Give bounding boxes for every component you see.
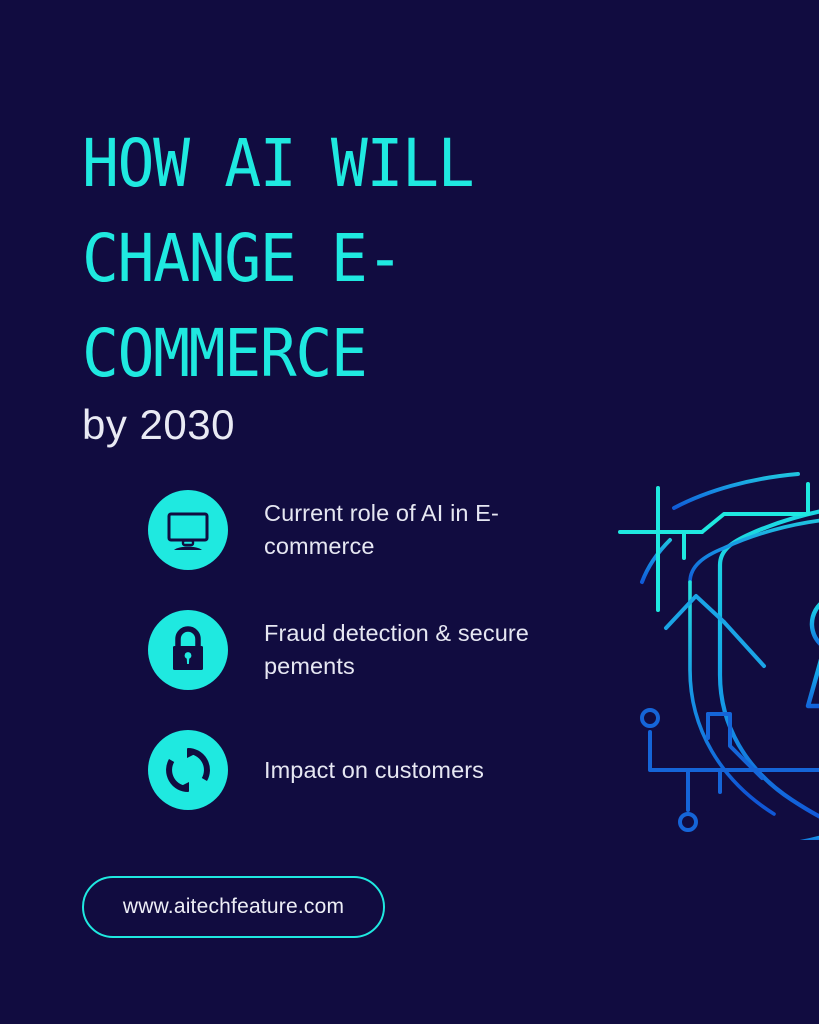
page-title-line-1: HOW AI WILL	[82, 116, 603, 211]
list-item-label: Fraud detection & secure pements	[264, 617, 574, 683]
list-item: Fraud detection & secure pements	[148, 610, 588, 690]
circuit-traces-bottom	[650, 714, 819, 810]
cyber-security-shield-graphic	[612, 470, 819, 840]
poster-canvas: HOW AI WILL CHANGE E- COMMERCE by 2030 C…	[0, 0, 819, 1024]
feature-list: Current role of AI in E-commerce Fraud d…	[148, 490, 588, 810]
list-item-label: Current role of AI in E-commerce	[264, 497, 574, 563]
page-title-line-2: CHANGE E-	[82, 211, 603, 306]
page-title: HOW AI WILL CHANGE E- COMMERCE	[82, 116, 642, 401]
list-item-label: Impact on customers	[264, 754, 484, 787]
circuit-traces-mid	[666, 596, 764, 666]
shield-outline	[720, 508, 819, 826]
shield-inner-arc	[690, 520, 819, 814]
page-title-line-3: COMMERCE	[82, 306, 603, 401]
circuit-nodes	[642, 710, 696, 830]
keyhole-icon	[808, 596, 819, 706]
website-url-pill[interactable]: www.aitechfeature.com	[82, 876, 385, 938]
padlock-icon	[148, 610, 228, 690]
list-item: Current role of AI in E-commerce	[148, 490, 588, 570]
list-item: Impact on customers	[148, 730, 588, 810]
arc-lines	[636, 474, 819, 840]
page-subtitle: by 2030	[82, 399, 235, 451]
website-url-text: www.aitechfeature.com	[123, 895, 344, 919]
refresh-sync-icon	[148, 730, 228, 810]
monitor-icon	[148, 490, 228, 570]
circuit-traces-top	[620, 484, 808, 610]
